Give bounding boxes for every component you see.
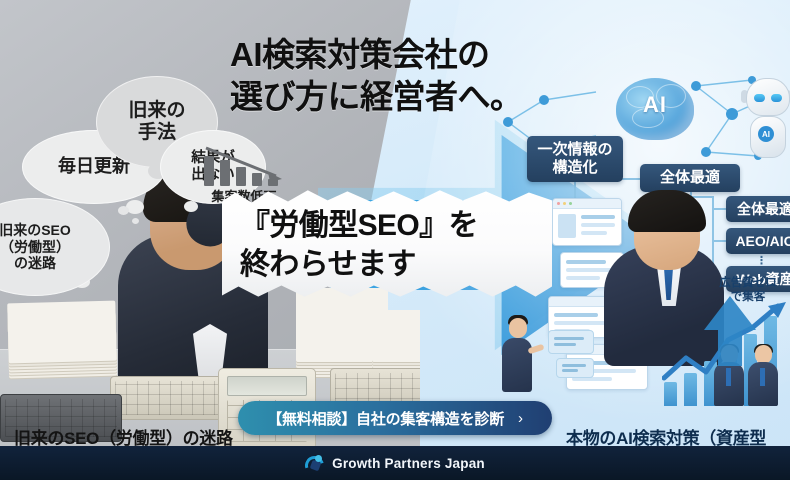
footer-bar: Growth Partners Japan	[0, 446, 790, 480]
headline-line-2: 選び方に経営者へ。	[230, 76, 560, 118]
ai-brain-label: AI	[616, 92, 694, 118]
bubble-seo-maze-line1: 旧来のSEO	[0, 222, 71, 239]
ad-cost-zero-line1: 広告費ゼロ	[706, 276, 790, 290]
chip-overall-optimization-2[interactable]: 全体最適	[726, 196, 790, 222]
page-title: AI検索対策会社の 選び方に経営者へ。	[230, 34, 560, 117]
headline-line-1: AI検索対策会社の	[230, 34, 560, 76]
bubble-seo-maze-line3: の迷路	[0, 255, 71, 272]
free-consultation-button[interactable]: 【無料相談】自社の集客構造を診断 ›	[238, 401, 552, 435]
robot-icon: AI	[742, 78, 790, 156]
bubble-tail-dot-b	[132, 218, 139, 224]
bubble-daily-update-label: 毎日更新	[58, 156, 130, 177]
robot-head	[746, 78, 790, 116]
calculator-screen	[227, 376, 307, 396]
hero-banner: 旧来のSEO （労働型） の迷路 キーワード 詰め込み 毎日更新 旧来の 手法 …	[0, 0, 790, 480]
bubble-seo-maze-line2: （労働型）	[0, 239, 71, 256]
chat-bubble-a	[548, 330, 594, 354]
brand-name: Growth Partners Japan	[332, 456, 485, 471]
banner-text: 『労働型SEO』を 終わらせます	[240, 198, 540, 292]
bubble-old-method-line1: 旧来の	[128, 100, 185, 122]
chat-bubble-b	[556, 358, 594, 378]
presenter-illustration	[492, 312, 540, 392]
cta-label: 【無料相談】自社の集客構造を診断	[267, 408, 504, 429]
paper-stack-left	[7, 301, 117, 364]
chip-overall-optimization[interactable]: 全体最適	[640, 164, 740, 192]
paper-stack-far-right	[372, 310, 420, 362]
banner-line-1: 『労働型SEO』を	[240, 206, 540, 245]
robot-chest-badge: AI	[758, 126, 774, 142]
growth-swirl-icon	[305, 454, 324, 473]
chip-structuring-line1: 一次情報の	[537, 141, 612, 159]
chevron-right-icon: ›	[518, 410, 523, 427]
chip-structuring[interactable]: 一次情報の 構造化	[527, 136, 623, 182]
banner-line-2: 終わらせます	[240, 245, 540, 284]
browser-card-top	[552, 198, 622, 246]
upward-arrow-icon	[700, 296, 758, 366]
chip-structuring-line2: 構造化	[537, 159, 612, 177]
chip-aeo-aio[interactable]: AEO/AIO	[726, 228, 790, 254]
bubble-tail-dot-a	[118, 206, 129, 215]
